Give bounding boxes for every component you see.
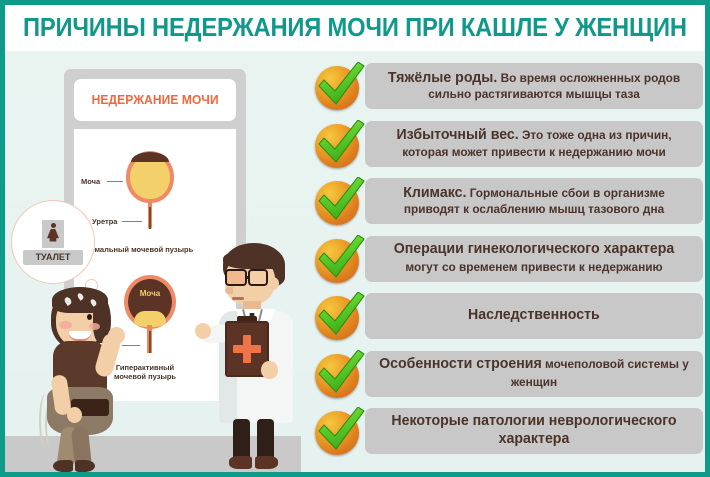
causes-list: Тяжёлые роды. Во время осложненных родов… (311, 61, 705, 476)
urethra-inner (149, 331, 152, 353)
cause-text: Операции гинекологического характера мог… (379, 241, 689, 277)
cause-pill[interactable]: Климакс. Гормональные сбои в организме п… (365, 178, 703, 224)
cause-lead: Некоторые патологии неврологического хар… (379, 413, 689, 449)
infographic-root: ПРИЧИНЫ НЕДЕРЖАНИЯ МОЧИ ПРИ КАШЛЕ У ЖЕНЩ… (0, 0, 710, 477)
cause-pill[interactable]: Наследственность (365, 293, 703, 339)
leader-line (107, 181, 123, 182)
label-urine-normal: Моча (81, 177, 100, 186)
check-icon (315, 177, 363, 225)
thought-bubble: ТУАЛЕТ (11, 200, 95, 284)
poster-heading-panel: НЕДЕРЖАНИЕ МОЧИ (74, 79, 236, 121)
woman-eye (87, 314, 92, 320)
cause-text: Избыточный вес. Это тоже одна из причин,… (379, 127, 689, 160)
toilet-sign-head (51, 223, 56, 228)
cause-pill[interactable]: Избыточный вес. Это тоже одна из причин,… (365, 121, 703, 167)
cause-text: Климакс. Гормональные сбои в организме п… (379, 185, 689, 218)
woman-raised-hand (108, 327, 125, 344)
cause-pill[interactable]: Некоторые патологии неврологического хар… (365, 408, 703, 454)
check-icon-mark (317, 292, 365, 338)
doctor-shoe-right (255, 456, 278, 469)
doctor-nose (225, 287, 233, 294)
doctor-shoe-left (229, 456, 252, 469)
cause-lead: Особенности строения (379, 356, 542, 372)
check-icon-mark (317, 407, 365, 453)
leader-line (122, 221, 142, 222)
glasses-bridge (246, 276, 250, 279)
page-title: ПРИЧИНЫ НЕДЕРЖАНИЯ МОЧИ ПРИ КАШЛЕ У ЖЕНЩ… (23, 14, 687, 43)
doctor-ear (267, 277, 279, 290)
title-bar: ПРИЧИНЫ НЕДЕРЖАНИЯ МОЧИ ПРИ КАШЛЕ У ЖЕНЩ… (5, 5, 705, 51)
label-urethra-normal: Уретра (92, 217, 117, 226)
toilet-sign-body (47, 229, 59, 242)
check-icon-mark (317, 350, 365, 396)
cause-lead: Тяжёлые роды. (388, 70, 497, 86)
cause-row[interactable]: Избыточный вес. Это тоже одна из причин,… (311, 119, 705, 169)
check-icon (315, 120, 363, 168)
check-icon-mark (317, 62, 365, 108)
doctor-hand-right (261, 361, 278, 379)
cause-row[interactable]: Наследственность (311, 291, 705, 341)
woman-shoe-right (75, 460, 95, 472)
cause-pill[interactable]: Особенности строения мочеполовой системы… (365, 351, 703, 397)
cause-row[interactable]: Особенности строения мочеполовой системы… (311, 349, 705, 399)
normal-bladder-diagram (118, 151, 182, 243)
cause-pill[interactable]: Тяжёлые роды. Во время осложненных родов… (365, 63, 703, 109)
cause-row[interactable]: Климакс. Гормональные сбои в организме п… (311, 176, 705, 226)
doctor-character (201, 243, 313, 472)
check-icon-mark (317, 177, 365, 223)
cause-row[interactable]: Тяжёлые роды. Во время осложненных родов… (311, 61, 705, 111)
woman-bag-hand (67, 407, 82, 423)
cause-lead: Операции гинекологического характера (394, 241, 675, 257)
poster-heading: НЕДЕРЖАНИЕ МОЧИ (91, 93, 218, 107)
woman-shoe-left (53, 460, 73, 472)
medical-cross-icon-bar (233, 345, 261, 353)
check-icon (315, 350, 363, 398)
cause-row[interactable]: Некоторые патологии неврологического хар… (311, 406, 705, 456)
cause-lead: Наследственность (468, 307, 600, 325)
cause-lead: Избыточный вес. (396, 127, 518, 143)
check-icon (315, 62, 363, 110)
woman-patient-character (23, 283, 141, 472)
check-icon-mark (317, 235, 365, 281)
urethra-inner (149, 207, 151, 229)
cause-lead: Климакс. (403, 185, 466, 201)
cause-rest: могут со временем привести к недержанию (405, 260, 662, 274)
cause-text: Особенности строения мочеполовой системы… (379, 356, 689, 392)
female-toilet-sign-icon (42, 220, 64, 248)
glasses-icon (225, 269, 247, 286)
woman-blush (89, 323, 100, 330)
doctor-hair-fringe (223, 249, 283, 269)
cause-pill[interactable]: Операции гинекологического характера мог… (365, 236, 703, 282)
doctor-hand-left (195, 323, 211, 339)
check-icon (315, 407, 363, 455)
toilet-label: ТУАЛЕТ (23, 250, 83, 265)
woman-blush (59, 321, 72, 329)
glasses-lens-right (248, 269, 268, 286)
doctor-mouth (232, 297, 244, 300)
check-icon (315, 292, 363, 340)
cause-text: Тяжёлые роды. Во время осложненных родов… (379, 70, 689, 103)
caption-normal-bladder: Нормальный мочевой пузырь (80, 245, 193, 254)
bladder-top-cap (131, 152, 169, 162)
cause-row[interactable]: Операции гинекологического характера мог… (311, 234, 705, 284)
check-icon-mark (317, 120, 365, 166)
check-icon (315, 235, 363, 283)
